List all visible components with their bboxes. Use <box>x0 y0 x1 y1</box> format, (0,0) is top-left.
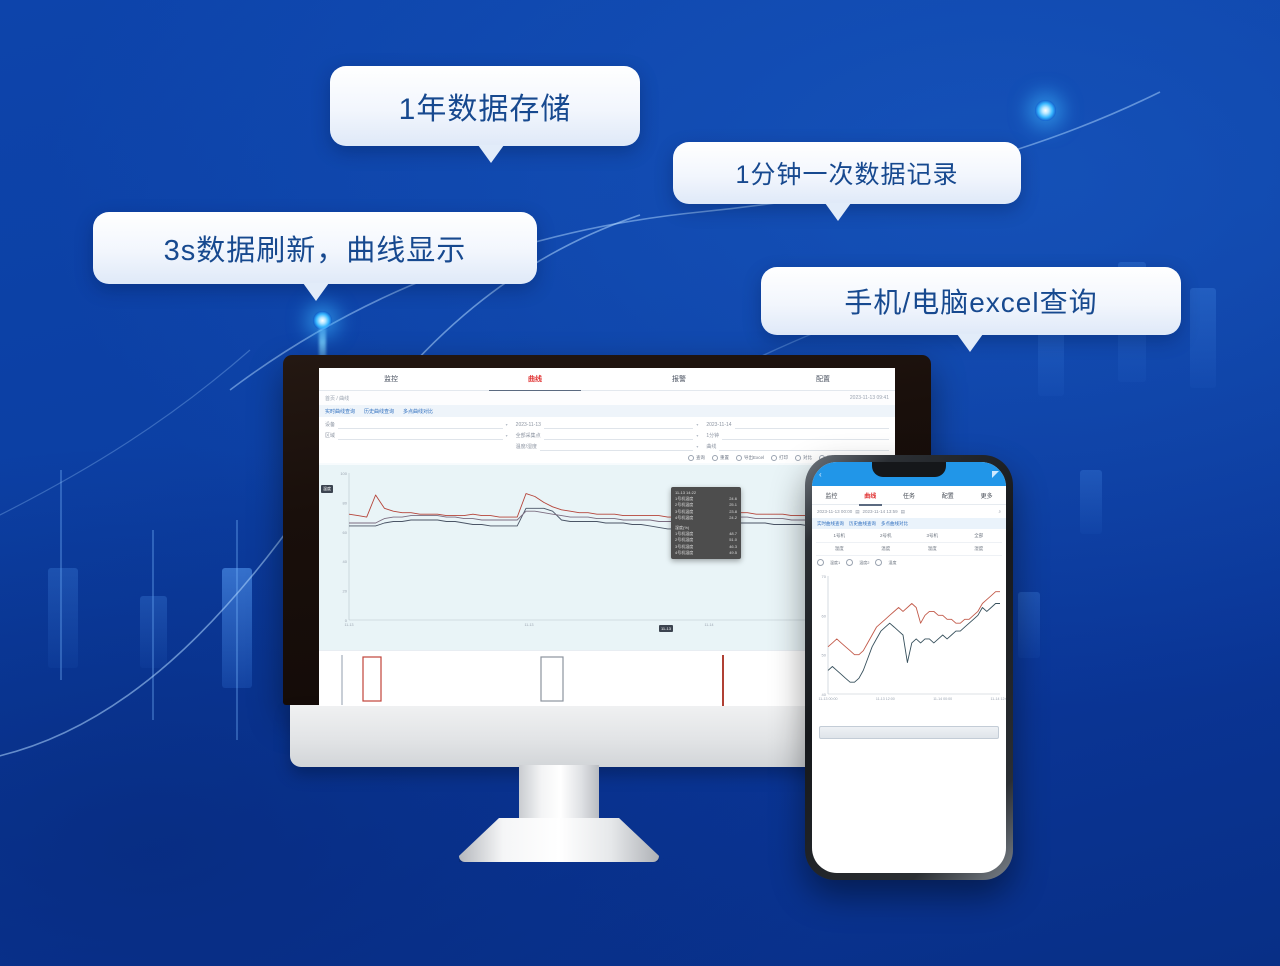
field-value: 曲线 <box>706 443 716 450</box>
tooltip-row: 4号机湿度49.5 <box>675 550 737 556</box>
signal-icon <box>992 471 999 478</box>
search-icon[interactable]: ⌕ <box>998 509 1001 514</box>
phone-nav-tabs: 监控 曲线 任务 配置 更多 <box>812 486 1006 505</box>
field-input[interactable] <box>722 432 889 440</box>
callout-record-interval[interactable]: 1分钟一次数据记录 <box>673 142 1021 204</box>
legend-marker-icon <box>817 559 824 566</box>
circle-icon <box>736 455 742 461</box>
desktop-tab-monitor[interactable]: 监控 <box>319 374 463 384</box>
callout-tail <box>957 334 983 352</box>
x-axis-badge: 11-13 <box>659 625 673 632</box>
tooltip-row: 4号机温度24.2 <box>675 515 737 521</box>
phone-date-range: 2023-11-13 00:00 ▤ 2023-11-14 13:59 ▤ ⌕ <box>812 505 1006 518</box>
callout-text: 1年数据存储 <box>399 84 572 128</box>
form-field-type[interactable]: 曲线 <box>706 443 889 451</box>
phone-tab-curve[interactable]: 曲线 <box>851 491 890 500</box>
form-field-parameter[interactable]: 温度/湿度 ▾ <box>516 443 699 451</box>
form-field-interval[interactable]: 1分钟 <box>706 432 889 440</box>
date-from[interactable]: 2023-11-13 00:00 <box>817 509 852 514</box>
monitor-stand-base <box>459 818 659 862</box>
chip-compare[interactable]: 多点曲线对比 <box>881 521 908 527</box>
legend-label[interactable]: 湿度 <box>888 560 896 566</box>
chevron-down-icon: ▾ <box>696 444 698 449</box>
cell: 全部 <box>956 533 1003 539</box>
callout-text: 手机/电脑excel查询 <box>844 281 1097 321</box>
subtab-realtime[interactable]: 实时曲线查询 <box>325 408 355 415</box>
field-input[interactable] <box>719 443 889 451</box>
svg-text:11-13: 11-13 <box>525 623 534 627</box>
callout-refresh-rate[interactable]: 3s数据刷新，曲线显示 <box>93 212 537 284</box>
svg-text:40: 40 <box>343 559 348 564</box>
callout-tail <box>478 145 504 163</box>
chevron-down-icon: ▾ <box>696 422 698 427</box>
phone-range-slider[interactable] <box>819 726 999 739</box>
tab-label: 监控 <box>825 494 837 500</box>
query-form: 设备 ▾ 2023-11-13 ▾ 2023-11-14 区域 ▾ 全部 <box>319 417 895 463</box>
circle-icon <box>712 455 718 461</box>
desktop-tab-alarm[interactable]: 报警 <box>607 374 751 384</box>
legend-label[interactable]: 温度1 <box>830 560 840 566</box>
field-input[interactable] <box>735 421 889 429</box>
legend-marker-icon <box>875 559 882 566</box>
desktop-tab-curve[interactable]: 曲线 <box>463 374 607 384</box>
btn-label: 查询 <box>696 455 705 461</box>
legend-label[interactable]: 温度2 <box>859 560 869 566</box>
circle-icon <box>795 455 801 461</box>
svg-text:60: 60 <box>822 613 827 618</box>
query-button[interactable]: 查询 <box>688 455 705 461</box>
glow-dot-right <box>1035 100 1056 121</box>
svg-text:80: 80 <box>343 500 348 505</box>
form-field-start-time[interactable]: 2023-11-13 ▾ <box>516 421 699 429</box>
field-label: 设备 <box>325 421 335 428</box>
cell: 湿度 <box>956 546 1003 552</box>
subtab-compare[interactable]: 多点曲线对比 <box>403 408 433 415</box>
svg-text:11-14 00:00: 11-14 00:00 <box>933 697 952 701</box>
field-value: 全部采集点 <box>516 432 541 439</box>
phone-tab-monitor[interactable]: 监控 <box>812 491 851 500</box>
form-action-buttons: 查询 重置 导出Excel 打印 对比 刷新 导出图片 设置 <box>325 452 889 463</box>
chip-realtime[interactable]: 实时曲线查询 <box>817 521 844 527</box>
breadcrumb-timestamp: 2023-11-13 09:41 <box>850 395 889 401</box>
desktop-subtabs: 实时曲线查询 历史曲线查询 多点曲线对比 <box>319 405 895 417</box>
tab-label: 配置 <box>816 376 830 383</box>
svg-text:11-14 12:00: 11-14 12:00 <box>991 697 1006 701</box>
phone-data-grid: 1号机 2号机 3号机 全部 温度 温度 温度 湿度 <box>812 529 1006 557</box>
callout-tail <box>303 283 329 301</box>
chip-history[interactable]: 历史曲线查询 <box>849 521 876 527</box>
tab-label: 曲线 <box>528 376 542 383</box>
breadcrumb: 首页 / 曲线 2023-11-13 09:41 <box>319 391 895 405</box>
chevron-down-icon: ▾ <box>506 422 508 427</box>
cell: 温度 <box>816 546 863 552</box>
field-value: 2023-11-14 <box>706 422 731 428</box>
cell: 温度 <box>909 546 956 552</box>
phone-screen: ‹ VENTCO 监控 曲线 任务 配置 更多 2023-11-13 00:00… <box>812 462 1006 873</box>
field-value: 1分钟 <box>706 432 719 439</box>
table-row: 温度 温度 温度 湿度 <box>816 543 1002 556</box>
chart-tooltip: 11-13 14:22 1号机温度24.6 2号机温度25.1 3号机温度23.… <box>671 487 741 559</box>
circle-icon <box>688 455 694 461</box>
print-button[interactable]: 打印 <box>771 455 788 461</box>
callout-text: 1分钟一次数据记录 <box>736 155 959 191</box>
cell: 2号机 <box>863 533 910 539</box>
phone-tab-more[interactable]: 更多 <box>967 491 1006 500</box>
poster-canvas: 1年数据存储 1分钟一次数据记录 3s数据刷新，曲线显示 手机/电脑excel查… <box>0 0 1280 966</box>
svg-text:11-13 00:00: 11-13 00:00 <box>819 697 838 701</box>
form-field-device[interactable]: 设备 ▾ <box>325 421 508 429</box>
export-excel-button[interactable]: 导出Excel <box>736 455 764 461</box>
table-row: 1号机 2号机 3号机 全部 <box>816 530 1002 543</box>
chevron-down-icon: ▾ <box>506 433 508 438</box>
field-input[interactable] <box>544 432 694 440</box>
callout-tail <box>825 203 851 221</box>
btn-label: 重置 <box>720 455 729 461</box>
field-value: 2023-11-13 <box>516 422 541 428</box>
tab-underline <box>859 504 882 506</box>
callout-text: 3s数据刷新，曲线显示 <box>164 227 467 269</box>
phone-tab-config[interactable]: 配置 <box>928 491 967 500</box>
calendar-icon[interactable]: ▤ <box>855 509 859 515</box>
tab-label: 更多 <box>981 494 993 500</box>
svg-text:60: 60 <box>343 530 348 535</box>
svg-text:11-14: 11-14 <box>705 623 714 627</box>
monitor-stand-neck <box>519 765 599 827</box>
desktop-nav-tabs: 监控 曲线 报警 配置 <box>319 368 895 391</box>
field-input[interactable] <box>338 432 503 440</box>
phone-filter-chips: 实时曲线查询 历史曲线查询 多点曲线对比 <box>812 518 1006 529</box>
field-input[interactable] <box>338 421 503 429</box>
tab-label: 任务 <box>903 494 915 500</box>
field-label: 区域 <box>325 432 335 439</box>
chevron-down-icon: ▾ <box>696 433 698 438</box>
btn-label: 打印 <box>779 455 788 461</box>
svg-text:11-13: 11-13 <box>345 623 354 627</box>
breadcrumb-path: 首页 / 曲线 <box>325 395 349 402</box>
svg-text:20: 20 <box>343 589 348 594</box>
legend-marker-icon <box>846 559 853 566</box>
tab-label: 曲线 <box>864 494 876 500</box>
field-input[interactable] <box>544 421 693 429</box>
form-field-end-time[interactable]: 2023-11-14 <box>706 421 889 429</box>
tab-label: 配置 <box>942 494 954 500</box>
circle-icon <box>771 455 777 461</box>
tab-underline <box>489 390 581 392</box>
compare-button[interactable]: 对比 <box>795 455 812 461</box>
form-row: 区域 ▾ 全部采集点 ▾ 1分钟 <box>325 430 889 441</box>
svg-text:100: 100 <box>340 471 347 476</box>
form-row: 设备 ▾ 2023-11-13 ▾ 2023-11-14 <box>325 419 889 430</box>
desktop-tab-config[interactable]: 配置 <box>751 374 895 384</box>
subtab-history[interactable]: 历史曲线查询 <box>364 408 394 415</box>
field-input[interactable] <box>540 443 693 451</box>
cell: 温度 <box>863 546 910 552</box>
cell: 3号机 <box>909 533 956 539</box>
chevron-left-icon[interactable]: ‹ <box>819 470 822 479</box>
form-field-point[interactable]: 全部采集点 ▾ <box>516 432 699 440</box>
cell: 1号机 <box>816 533 863 539</box>
callout-excel-query[interactable]: 手机/电脑excel查询 <box>761 267 1181 335</box>
phone-tab-task[interactable]: 任务 <box>890 491 929 500</box>
svg-text:50: 50 <box>822 653 827 658</box>
form-field-area[interactable]: 区域 ▾ <box>325 432 508 440</box>
btn-label: 对比 <box>803 455 812 461</box>
reset-button[interactable]: 重置 <box>712 455 729 461</box>
form-row: 温度/湿度 ▾ 曲线 <box>325 441 889 452</box>
callout-data-retention[interactable]: 1年数据存储 <box>330 66 640 146</box>
phone-curve-chart[interactable]: 7060504011-13 00:0011-13 12:0011-14 00:0… <box>812 568 1006 718</box>
date-to[interactable]: 2023-11-14 13:59 <box>862 509 897 514</box>
glow-dot-left <box>313 311 332 330</box>
phone-chart-legend: 温度1 温度2 湿度 <box>812 557 1006 568</box>
svg-text:70: 70 <box>822 574 827 579</box>
btn-label: 导出Excel <box>744 455 764 461</box>
tab-label: 监控 <box>384 376 398 383</box>
phone-chart-svg: 7060504011-13 00:0011-13 12:0011-14 00:0… <box>812 568 1006 718</box>
phone-notch <box>872 462 946 477</box>
tab-label: 报警 <box>672 376 686 383</box>
field-value: 温度/湿度 <box>516 443 537 450</box>
calendar-icon[interactable]: ▤ <box>901 509 905 515</box>
svg-text:11-13 12:00: 11-13 12:00 <box>876 697 895 701</box>
